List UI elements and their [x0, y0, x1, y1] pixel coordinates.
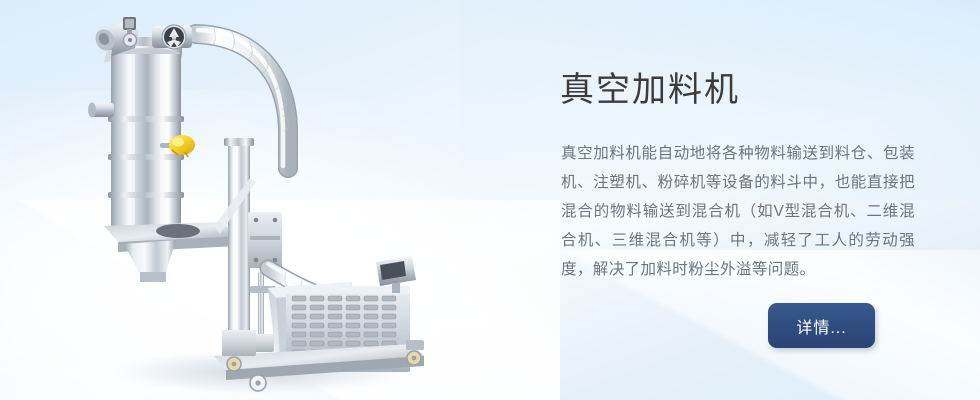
product-description: 真空加料机能自动地将各种物料输送到料仓、包装机、注塑机、粉碎机等设备的料斗中，也…: [561, 139, 915, 284]
column-foot-bracket: [222, 330, 256, 356]
discharge-cone: [124, 240, 176, 274]
discharge-opening: [156, 224, 200, 238]
hopper-band-1: [108, 116, 184, 122]
impeller-port: [152, 25, 192, 49]
discharge-outlet: [140, 272, 166, 282]
hopper-cylinder: [111, 54, 181, 226]
hopper-side-port-flange: [88, 103, 96, 118]
hopper-specular-2: [160, 54, 169, 226]
details-button[interactable]: 详情...: [768, 303, 875, 348]
cabinet-top-edge: [286, 286, 410, 294]
support-column-cap: [224, 138, 254, 146]
banner-content: 真空加料机 真空加料机能自动地将各种物料输送到料仓、包装机、注塑机、粉碎机等设备…: [558, 0, 958, 400]
page-title: 真空加料机: [560, 69, 740, 111]
hopper-specular-1: [128, 54, 135, 226]
carriage-slot: [250, 236, 280, 240]
product-photo: [0, 0, 470, 400]
product-banner: 真空加料机 真空加料机能自动地将各种物料输送到料仓、包装机、注塑机、粉碎机等设备…: [0, 0, 980, 400]
hopper-band-3: [108, 192, 184, 198]
hopper-band-2: [108, 154, 184, 160]
